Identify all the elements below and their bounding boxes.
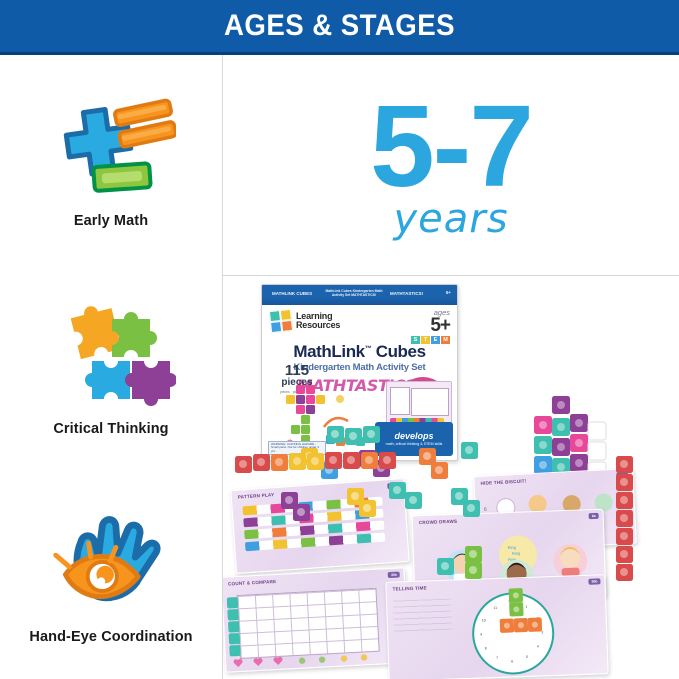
box-title-word2: Cubes <box>376 342 426 361</box>
box-top-right-text: MATHTASTICS! <box>390 291 423 296</box>
age-panel: 5-7 years <box>223 55 679 275</box>
header-banner: AGES & STAGES <box>0 0 679 55</box>
box-card-small-grid <box>390 387 410 415</box>
box-title-word1: MathLink <box>293 342 364 361</box>
clock-cube-hands <box>483 585 556 661</box>
age-range: 5-7 <box>370 95 532 197</box>
card-tag-telling-time: 50b <box>588 578 600 584</box>
logo-cube-icon <box>269 309 293 333</box>
card-sub-telling-time <box>393 599 452 635</box>
teal-cubes <box>435 542 495 592</box>
box-top-corner-age: 5+ <box>446 290 451 295</box>
math-symbols-icon <box>46 88 176 198</box>
brand-name: Learning Resources <box>296 312 340 331</box>
box-top-center-text: MathLink Cubes Kindergarten Math Activit… <box>324 289 384 298</box>
box-card-grid <box>411 388 449 416</box>
box-top-face: MATHLINK CUBES MathLink Cubes Kindergart… <box>262 285 457 305</box>
card-telling-time: TELLING TIME 50b 12 1 2 3 4 5 6 7 8 9 10… <box>385 574 608 679</box>
trademark-symbol: ™ <box>365 345 372 352</box>
feature-critical-thinking: Critical Thinking <box>0 263 222 471</box>
red-cube-rod <box>611 456 641 586</box>
box-product-title: MathLink™ Cubes <box>262 343 457 360</box>
card-tag-crowd-draws: 8a <box>589 513 599 519</box>
orange-cube-rod <box>235 452 415 478</box>
piece-count-number: 115 <box>272 363 322 378</box>
feature-list: Early Math <box>0 55 222 679</box>
product-photo: MATHLINK CUBES MathLink Cubes Kindergart… <box>223 276 679 679</box>
puzzle-pieces-icon <box>46 296 176 406</box>
feature-hand-eye-coordination: Hand-Eye Coordination <box>0 471 222 679</box>
feature-label-early-math: Early Math <box>74 212 148 231</box>
feature-label-hand-eye-coordination: Hand-Eye Coordination <box>29 628 192 647</box>
box-top-left-text: MATHLINK CUBES <box>272 291 312 296</box>
counting-grid <box>237 588 380 659</box>
card-title-telling-time: TELLING TIME <box>392 585 426 591</box>
ages-and-stages-infographic: AGES & STAGES <box>0 0 679 679</box>
box-ages-value: 5+ <box>411 317 450 334</box>
brand-name-line2: Resources <box>296 321 340 330</box>
hand-eye-icon <box>46 504 176 614</box>
feature-early-math: Early Math <box>0 55 222 263</box>
clock-num-9: 9 <box>480 633 482 637</box>
learning-resources-logo: Learning Resources <box>270 310 340 332</box>
page-title: AGES & STAGES <box>224 9 455 43</box>
box-ages-badge: ages 5+ S T E M <box>411 309 450 344</box>
feature-label-critical-thinking: Critical Thinking <box>53 420 168 439</box>
age-unit: years <box>393 199 508 239</box>
